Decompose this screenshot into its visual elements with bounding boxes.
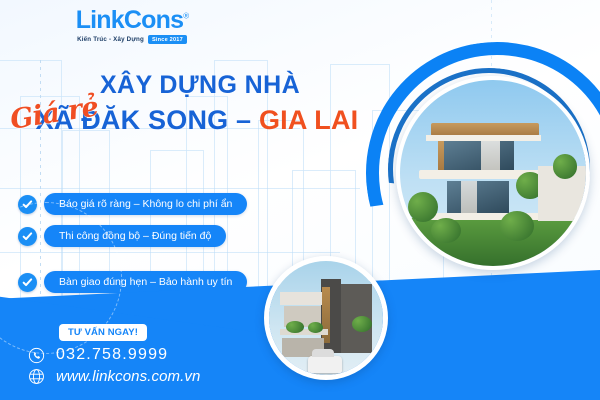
headline-block: XÂY DỰNG NHÀ Giá rẻ XÃ ĐĂK SONG – GIA LA… bbox=[0, 72, 372, 135]
website-row[interactable]: www.linkcons.com.vn bbox=[28, 368, 200, 385]
globe-icon bbox=[28, 368, 45, 385]
benefits-list: Báo giá rõ ràng – Không lo chi phí ẩn Th… bbox=[18, 193, 247, 293]
check-circle-icon bbox=[18, 273, 37, 292]
contact-block: 032.758.9999 www.linkcons.com.vn bbox=[28, 346, 200, 385]
brand-tagline: Kiến Trúc - Xây Dựng bbox=[77, 36, 144, 43]
list-item: Báo giá rõ ràng – Không lo chi phí ẩn bbox=[18, 193, 247, 215]
phone-row[interactable]: 032.758.9999 bbox=[28, 346, 200, 364]
townhouse-photo bbox=[264, 256, 388, 380]
phone-number: 032.758.9999 bbox=[56, 346, 168, 364]
since-badge: Since 2017 bbox=[148, 35, 187, 44]
registered-mark-icon: ® bbox=[183, 12, 188, 21]
hero-media bbox=[366, 42, 600, 278]
headline-location-accent: GIA LAI bbox=[259, 105, 358, 135]
brand-name-text: LinkCons bbox=[76, 6, 184, 34]
headline-line-1: XÂY DỰNG NHÀ bbox=[0, 72, 372, 98]
advertisement-banner: LinkCons® Kiến Trúc - Xây Dựng Since 201… bbox=[0, 0, 600, 400]
car-graphic bbox=[308, 356, 342, 373]
website-url: www.linkcons.com.vn bbox=[56, 368, 200, 385]
check-circle-icon bbox=[18, 227, 37, 246]
brand-name: LinkCons® bbox=[76, 8, 189, 33]
list-item: Thi công đồng bộ – Đúng tiến độ bbox=[18, 225, 247, 247]
villa-photo bbox=[396, 76, 590, 270]
cta-badge[interactable]: TƯ VẤN NGAY! bbox=[59, 324, 147, 341]
benefit-label: Thi công đồng bộ – Đúng tiến độ bbox=[44, 225, 226, 247]
benefit-label: Báo giá rõ ràng – Không lo chi phí ẩn bbox=[44, 193, 247, 215]
inset-media bbox=[264, 256, 388, 380]
brand-tagline-row: Kiến Trúc - Xây Dựng Since 2017 bbox=[66, 35, 198, 44]
phone-icon bbox=[28, 347, 45, 364]
brand-logo: LinkCons® Kiến Trúc - Xây Dựng Since 201… bbox=[66, 8, 198, 44]
check-circle-icon bbox=[18, 195, 37, 214]
